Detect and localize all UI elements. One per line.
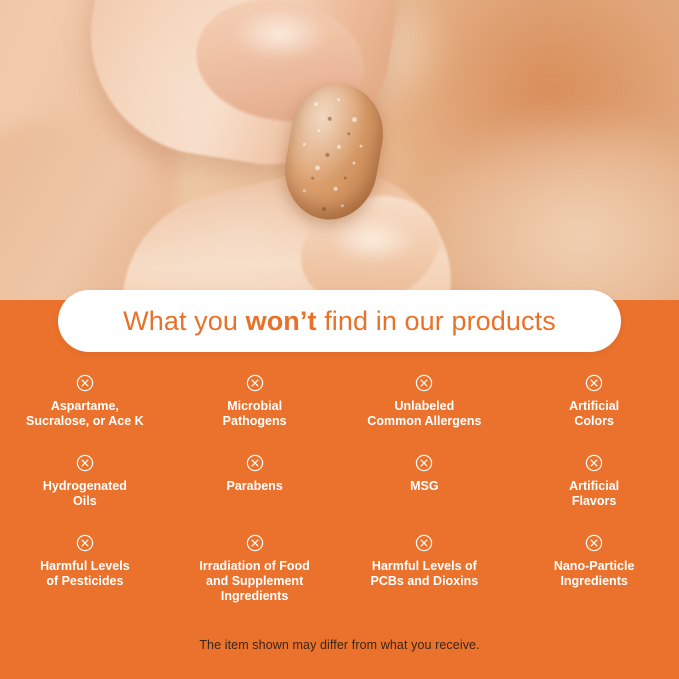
exclusion-label: Nano-Particle Ingredients (554, 559, 635, 589)
exclusion-item: Nano-Particle Ingredients (509, 524, 679, 604)
exclusion-item: Hydrogenated Oils (0, 444, 170, 524)
exclusion-item: Harmful Levels of PCBs and Dioxins (340, 524, 510, 604)
exclusion-label: Aspartame, Sucralose, or Ace K (26, 399, 144, 429)
headline-suffix: find in our products (317, 306, 556, 336)
circle-x-icon (246, 374, 264, 392)
exclusion-label: Unlabeled Common Allergens (367, 399, 481, 429)
headline-banner: What you won’t find in our products (58, 290, 621, 352)
circle-x-icon (246, 534, 264, 552)
exclusion-item: Irradiation of Food and Supplement Ingre… (170, 524, 340, 604)
exclusion-item: MSG (340, 444, 510, 524)
circle-x-icon (415, 374, 433, 392)
exclusion-item: Artificial Flavors (509, 444, 679, 524)
product-photo (0, 0, 679, 300)
thumbnail-top-highlight (232, 8, 328, 60)
exclusion-item: Unlabeled Common Allergens (340, 364, 510, 444)
exclusion-label: Parabens (226, 479, 282, 494)
exclusions-grid: Aspartame, Sucralose, or Ace K Microbial… (0, 364, 679, 624)
exclusion-label: Harmful Levels of PCBs and Dioxins (371, 559, 479, 589)
headline-prefix: What you (123, 306, 245, 336)
circle-x-icon (585, 374, 603, 392)
circle-x-icon (76, 374, 94, 392)
disclaimer-text: The item shown may differ from what you … (0, 638, 679, 652)
circle-x-icon (76, 454, 94, 472)
exclusion-label: Hydrogenated Oils (43, 479, 127, 509)
exclusion-item: Aspartame, Sucralose, or Ace K (0, 364, 170, 444)
exclusion-label: Artificial Flavors (569, 479, 619, 509)
circle-x-icon (585, 454, 603, 472)
circle-x-icon (246, 454, 264, 472)
circle-x-icon (76, 534, 94, 552)
exclusion-item: Microbial Pathogens (170, 364, 340, 444)
product-infographic: What you won’t find in our products Aspa… (0, 0, 679, 679)
exclusion-item: Parabens (170, 444, 340, 524)
exclusion-label: Irradiation of Food and Supplement Ingre… (199, 559, 309, 604)
photo-blur-highlight-right (430, 120, 679, 300)
exclusion-item: Harmful Levels of Pesticides (0, 524, 170, 604)
exclusion-label: Harmful Levels of Pesticides (40, 559, 130, 589)
exclusion-label: Microbial Pathogens (223, 399, 287, 429)
fingernail-bottom-highlight (330, 216, 416, 264)
circle-x-icon (415, 534, 433, 552)
circle-x-icon (415, 454, 433, 472)
exclusion-label: MSG (410, 479, 438, 494)
circle-x-icon (585, 534, 603, 552)
exclusion-label: Artificial Colors (569, 399, 619, 429)
headline-emphasis: won’t (246, 306, 317, 336)
exclusion-item: Artificial Colors (509, 364, 679, 444)
headline-text: What you won’t find in our products (123, 306, 556, 337)
